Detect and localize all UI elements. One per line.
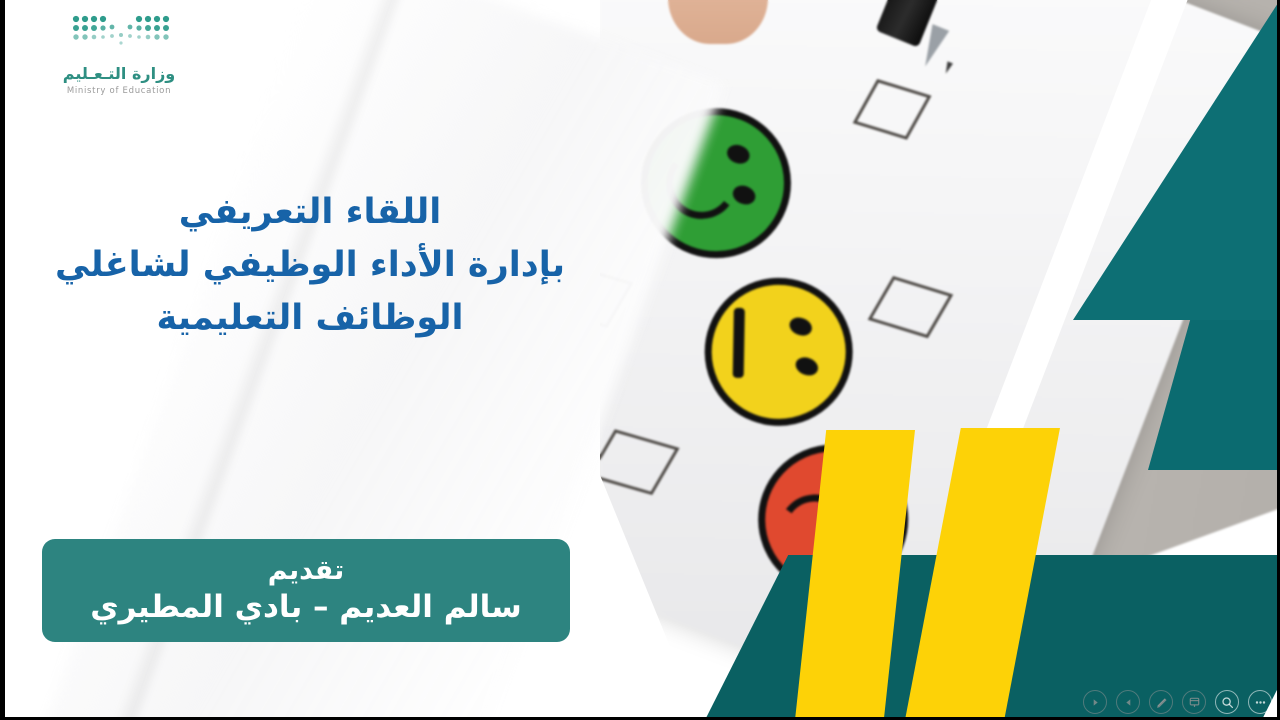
title-line-1: اللقاء التعريفي: [40, 186, 580, 239]
presentation-title-slide: وزارة التـعـليم Ministry of Education ال…: [0, 0, 1280, 720]
checkbox: [600, 429, 680, 495]
title-line-3: الوظائف التعليمية: [40, 292, 580, 345]
title-line-2: بإدارة الأداء الوظيفي لشاغلي: [40, 239, 580, 292]
present-view-icon[interactable]: [1182, 690, 1206, 714]
logo-english-text: Ministry of Education: [34, 86, 204, 96]
pen-annotate-icon[interactable]: [1149, 690, 1173, 714]
more-options-icon[interactable]: [1248, 690, 1272, 714]
ministry-of-education-logo: وزارة التـعـليم Ministry of Education: [34, 14, 204, 106]
neutral-mouth: [733, 308, 745, 378]
viewer-controls: [1083, 690, 1272, 714]
yellow-neutral-face: [683, 256, 874, 447]
presenter-names: سالم العديم – بادي المطيري: [90, 589, 522, 626]
zoom-search-icon[interactable]: [1215, 690, 1239, 714]
logo-arabic-text: وزارة التـعـليم: [34, 64, 204, 83]
eye: [787, 314, 814, 338]
letterbox-left: [0, 0, 5, 720]
previous-slide-icon[interactable]: [1116, 690, 1140, 714]
checkbox: [853, 79, 932, 140]
checkbox: [868, 276, 954, 338]
presenter-box: تقديم سالم العديم – بادي المطيري: [42, 539, 570, 642]
eye: [793, 354, 820, 378]
presenter-label: تقديم: [268, 555, 344, 587]
moe-dotted-wing-icon: [70, 14, 176, 58]
slide-title: اللقاء التعريفي بإدارة الأداء الوظيفي لش…: [40, 186, 580, 346]
next-slide-icon[interactable]: [1083, 690, 1107, 714]
